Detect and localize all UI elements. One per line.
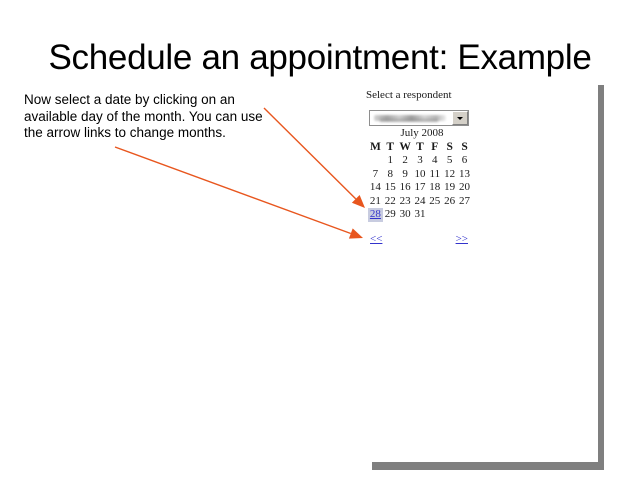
calendar-day-cell: 12 (442, 168, 457, 182)
weekday-header: T (383, 140, 398, 154)
calendar-day-cell: 2 (398, 154, 413, 168)
calendar-day-cell: 25 (427, 195, 442, 209)
calendar-nav: << >> (370, 233, 468, 245)
calendar-day-cell: 6 (457, 154, 472, 168)
weekday-header: S (442, 140, 457, 154)
calendar-day-cell: 7 (368, 168, 383, 182)
calendar-day-selected[interactable]: 28 (368, 208, 383, 222)
respondent-label: Select a respondent (366, 89, 452, 101)
calendar-day-cell: 3 (413, 154, 428, 168)
respondent-select-value (370, 111, 452, 125)
calendar-day-cell: 29 (383, 208, 398, 222)
arrow-to-day-grid (264, 108, 365, 208)
arrow-shaft (264, 108, 356, 199)
weekday-header: F (427, 140, 442, 154)
calendar-empty-cell (457, 208, 472, 222)
weekday-header: W (398, 140, 413, 154)
calendar-week-row: 14151617181920 (368, 181, 472, 195)
weekday-header: M (368, 140, 383, 154)
calendar-day-cell: 31 (413, 208, 428, 222)
calendar-day-cell: 22 (383, 195, 398, 209)
calendar-month-label: July 2008 (368, 127, 472, 140)
calendar-day-cell: 14 (368, 181, 383, 195)
calendar-day-cell: 18 (427, 181, 442, 195)
calendar-day-cell: 23 (398, 195, 413, 209)
calendar-day-cell: 24 (413, 195, 428, 209)
calendar-day-cell: 4 (427, 154, 442, 168)
calendar-empty-cell (427, 208, 442, 222)
calendar-week-row: 78910111213 (368, 168, 472, 182)
calendar-empty-cell (442, 208, 457, 222)
calendar-day-cell: 21 (368, 195, 383, 209)
calendar-day-cell: 13 (457, 168, 472, 182)
calendar-day-cell: 16 (398, 181, 413, 195)
calendar-week-row: 21222324252627 (368, 195, 472, 209)
calendar-week-row: 28293031 (368, 208, 472, 222)
calendar-day-cell: 11 (427, 168, 442, 182)
prev-month-link[interactable]: << (370, 233, 382, 245)
weekday-header: T (413, 140, 428, 154)
chevron-down-icon[interactable] (452, 111, 468, 125)
calendar-day-cell: 26 (442, 195, 457, 209)
calendar-day-cell: 5 (442, 154, 457, 168)
instruction-text: Now select a date by clicking on an avai… (24, 92, 272, 142)
calendar-header-row: M T W T F S S (368, 140, 472, 154)
calendar-day-cell: 19 (442, 181, 457, 195)
calendar-day-cell: 8 (383, 168, 398, 182)
calendar-day-cell: 15 (383, 181, 398, 195)
calendar-week-row: 123456 (368, 154, 472, 168)
calendar-body: 1234567891011121314151617181920212223242… (368, 154, 472, 222)
calendar-day-link[interactable]: 28 (370, 208, 381, 220)
respondent-select[interactable] (369, 110, 469, 126)
calendar-day-cell: 1 (383, 154, 398, 168)
arrow-head (349, 228, 363, 238)
calendar-day-cell: 27 (457, 195, 472, 209)
calendar-day-cell: 9 (398, 168, 413, 182)
calendar-day-cell: 10 (413, 168, 428, 182)
arrow-to-month-nav (115, 147, 363, 239)
panel-shadow-bottom (372, 461, 604, 470)
calendar-table: M T W T F S S 12345678910111213141516171… (368, 140, 472, 222)
calendar-day-cell: 20 (457, 181, 472, 195)
calendar-day-cell: 30 (398, 208, 413, 222)
calendar-widget: July 2008 M T W T F S S 1234567891011121… (368, 127, 472, 222)
next-month-link[interactable]: >> (456, 233, 468, 245)
calendar-empty-cell (368, 154, 383, 168)
calendar-day-cell: 17 (413, 181, 428, 195)
page-title: Schedule an appointment: Example (0, 38, 640, 78)
weekday-header: S (457, 140, 472, 154)
arrow-head (352, 195, 365, 208)
arrow-shaft (115, 147, 351, 234)
